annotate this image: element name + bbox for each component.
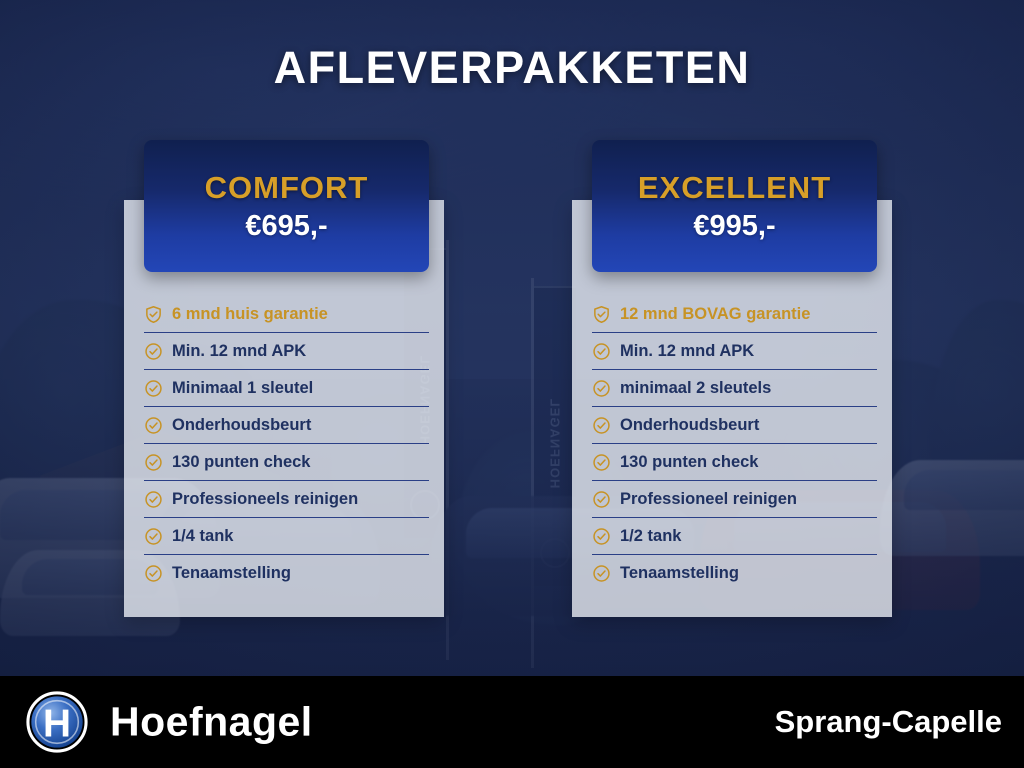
feature-item: Onderhoudsbeurt [592, 407, 877, 444]
feature-label: Professioneel reinigen [620, 490, 797, 509]
feature-list: 6 mnd huis garantie Min. 12 mnd APK Mini… [144, 296, 429, 592]
feature-item: Professioneels reinigen [144, 481, 429, 518]
feature-label: Onderhoudsbeurt [172, 416, 311, 435]
feature-label: 6 mnd huis garantie [172, 305, 328, 324]
package-header: EXCELLENT €995,- [592, 140, 877, 272]
circle-check-icon [144, 416, 163, 435]
feature-item: 12 mnd BOVAG garantie [592, 296, 877, 333]
circle-check-icon [592, 527, 611, 546]
poster-root: HOEFNAGEL HOEFNAGEL AFLEVERPAKKETEN COMF… [0, 0, 1024, 768]
feature-label: 12 mnd BOVAG garantie [620, 305, 810, 324]
package-header: COMFORT €695,- [144, 140, 429, 272]
circle-check-icon [592, 564, 611, 583]
circle-check-icon [144, 527, 163, 546]
package-price: €695,- [245, 210, 327, 243]
package-name: COMFORT [205, 170, 369, 206]
circle-check-icon [592, 379, 611, 398]
feature-item: Min. 12 mnd APK [144, 333, 429, 370]
feature-item: Onderhoudsbeurt [144, 407, 429, 444]
feature-item: minimaal 2 sleutels [592, 370, 877, 407]
feature-label: 130 punten check [172, 453, 310, 472]
feature-label: Min. 12 mnd APK [172, 342, 306, 361]
feature-item: Professioneel reinigen [592, 481, 877, 518]
shield-check-icon [144, 305, 163, 324]
feature-label: Min. 12 mnd APK [620, 342, 754, 361]
feature-item: Minimaal 1 sleutel [144, 370, 429, 407]
logo-letter: H [43, 703, 71, 746]
circle-check-icon [144, 490, 163, 509]
circle-check-icon [144, 453, 163, 472]
feature-item: Tenaamstelling [144, 555, 429, 592]
feature-label: 1/2 tank [620, 527, 681, 546]
package-price: €995,- [693, 210, 775, 243]
feature-label: 130 punten check [620, 453, 758, 472]
location-name: Sprang-Capelle [775, 704, 1002, 740]
circle-check-icon [592, 453, 611, 472]
feature-label: Onderhoudsbeurt [620, 416, 759, 435]
feature-item: 130 punten check [144, 444, 429, 481]
page-title: AFLEVERPAKKETEN [0, 42, 1024, 94]
logo-svg: H [26, 691, 88, 753]
feature-item: Tenaamstelling [592, 555, 877, 592]
feature-label: 1/4 tank [172, 527, 233, 546]
feature-label: minimaal 2 sleutels [620, 379, 771, 398]
footer-bar: H Hoefnagel Sprang-Capelle [0, 676, 1024, 768]
feature-item: Min. 12 mnd APK [592, 333, 877, 370]
feature-item: 130 punten check [592, 444, 877, 481]
hoefnagel-logo-icon: H [26, 691, 88, 753]
package-name: EXCELLENT [638, 170, 831, 206]
circle-check-icon [144, 379, 163, 398]
feature-item: 1/2 tank [592, 518, 877, 555]
feature-label: Professioneels reinigen [172, 490, 358, 509]
feature-list: 12 mnd BOVAG garantie Min. 12 mnd APK mi… [592, 296, 877, 592]
feature-label: Tenaamstelling [172, 564, 291, 583]
circle-check-icon [592, 416, 611, 435]
brand-name: Hoefnagel [110, 699, 313, 746]
feature-label: Minimaal 1 sleutel [172, 379, 313, 398]
circle-check-icon [144, 342, 163, 361]
circle-check-icon [592, 342, 611, 361]
feature-item: 6 mnd huis garantie [144, 296, 429, 333]
shield-check-icon [592, 305, 611, 324]
feature-item: 1/4 tank [144, 518, 429, 555]
circle-check-icon [592, 490, 611, 509]
feature-label: Tenaamstelling [620, 564, 739, 583]
circle-check-icon [144, 564, 163, 583]
